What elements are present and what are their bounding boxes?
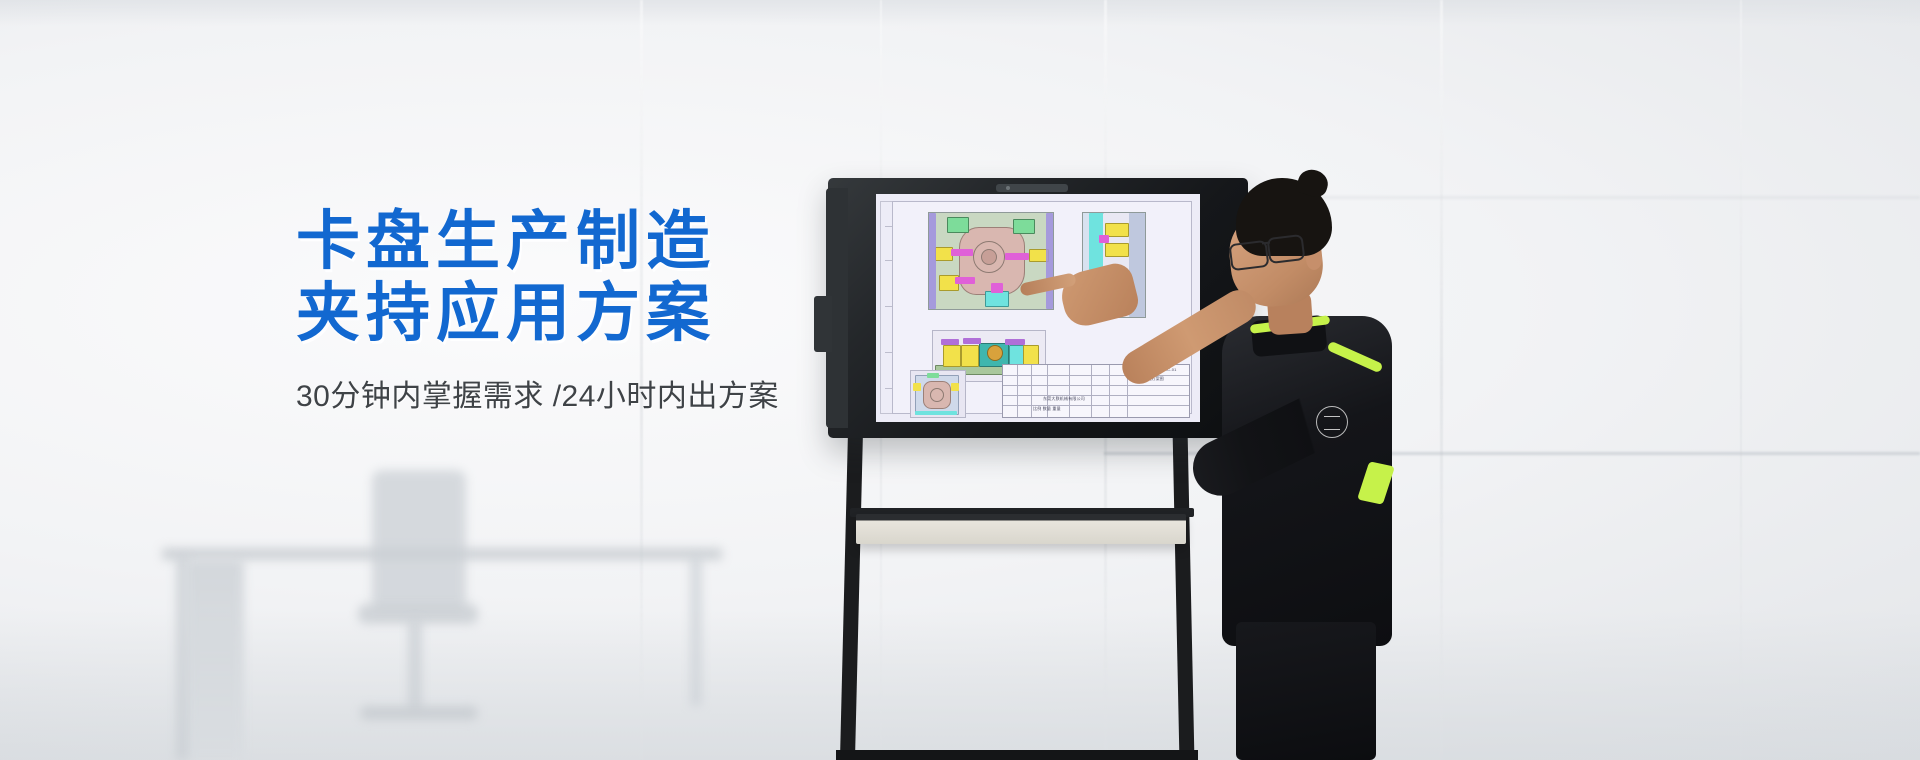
cad-view-bottom-detail[interactable] <box>910 370 966 418</box>
office-chair-stem <box>408 620 422 710</box>
glasses-lens-left <box>1228 240 1269 271</box>
office-chair-base <box>360 706 478 720</box>
ceiling-gradient <box>0 0 1920 26</box>
presenter-hips <box>1236 622 1376 760</box>
office-desk-leg-right <box>690 556 702 706</box>
presenter-person <box>1180 170 1440 760</box>
cad-title-block-company: 东莞大朕机械有限公司 <box>1043 397 1085 401</box>
stand-tray <box>856 514 1186 544</box>
cad-sheet[interactable]: DX-0660/C-01-0PIC-01 夹具方案图 东莞大朕机械有限公司 比例… <box>876 194 1200 422</box>
stand-post-left <box>840 430 863 760</box>
display-screen[interactable]: DX-0660/C-01-0PIC-01 夹具方案图 东莞大朕机械有限公司 比例… <box>876 194 1200 422</box>
glasses-lens-right <box>1267 234 1306 264</box>
hero-banner: 卡盘生产制造 夹持应用方案 30分钟内掌握需求 /24小时内出方案 BOE <box>0 0 1920 760</box>
office-desk-leg-left <box>176 556 188 760</box>
webcam-bar <box>996 184 1068 192</box>
stand-foot-bar <box>836 750 1198 760</box>
cad-view-top-fixture[interactable] <box>928 212 1054 310</box>
office-chair-back <box>372 470 466 610</box>
office-desk-panel <box>186 560 244 760</box>
display-rear-bracket <box>814 296 832 352</box>
cad-title-block-meta: 比例 数量 重量 <box>1033 407 1061 411</box>
